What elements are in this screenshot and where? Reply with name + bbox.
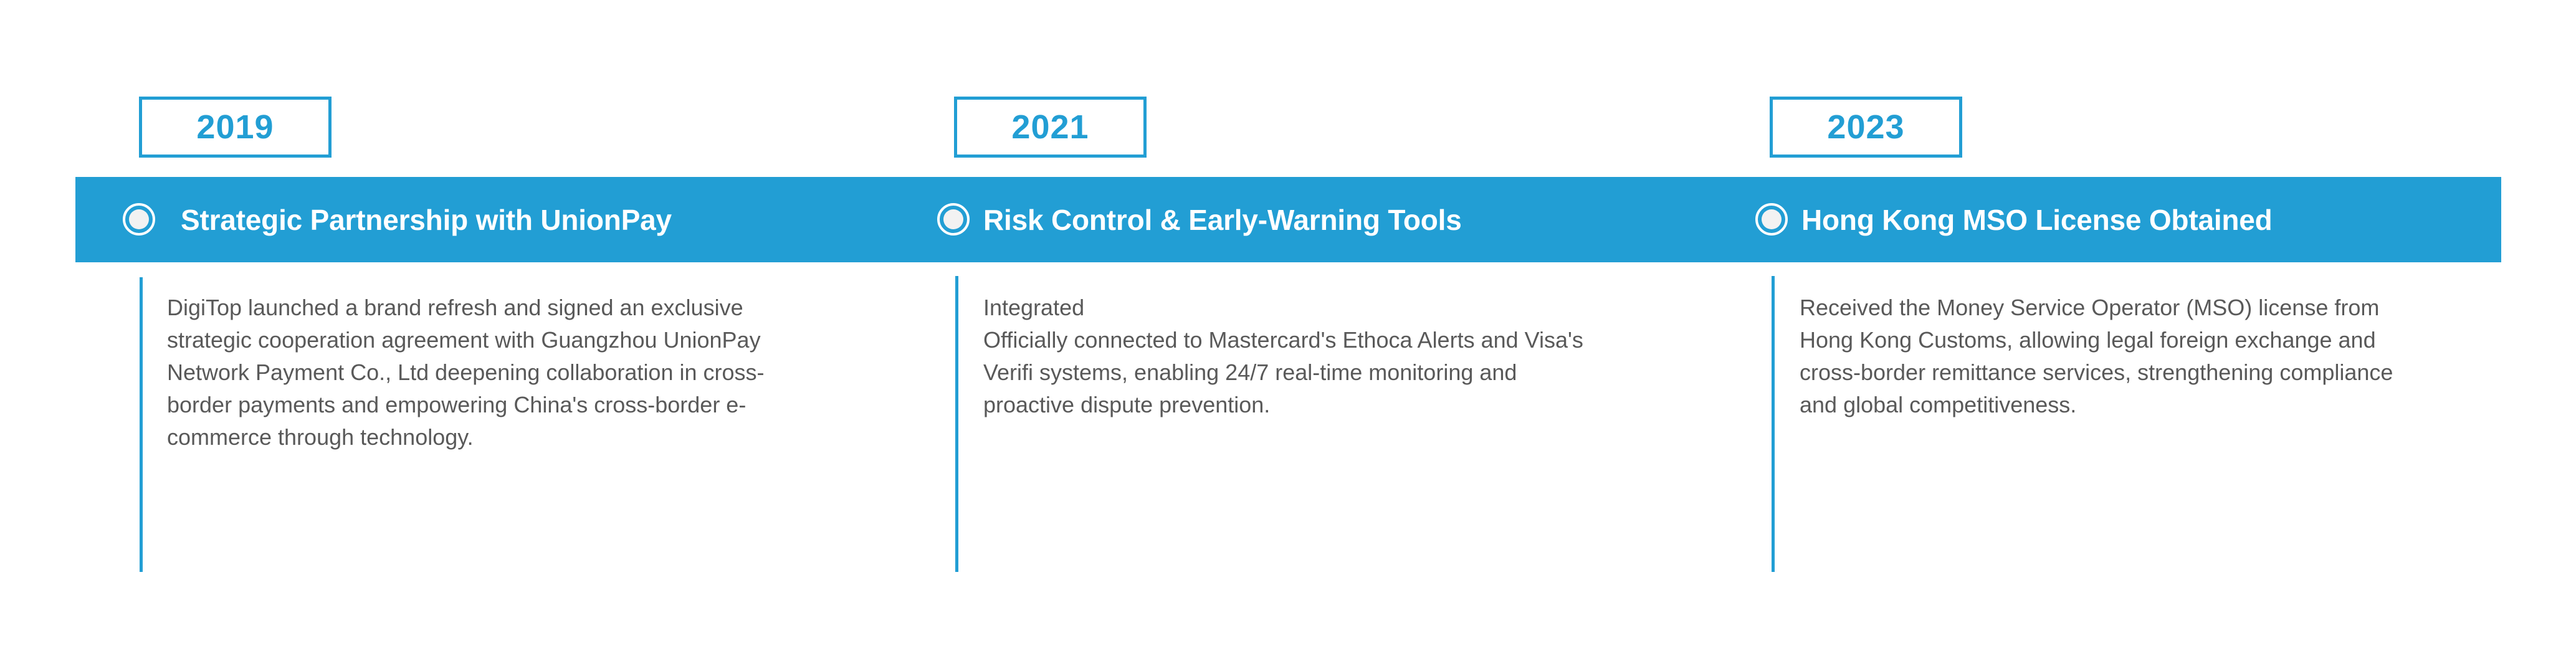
year-badge-2019: 2019 — [139, 97, 332, 158]
filled-circle-marker-icon — [1755, 203, 1788, 236]
year-badge-2021: 2021 — [954, 97, 1147, 158]
year-badge-2023: 2023 — [1770, 97, 1962, 158]
accent-rule-2019 — [140, 277, 143, 572]
milestone-title-2019: Strategic Partnership with UnionPay — [181, 177, 672, 262]
milestone-title-2023: Hong Kong MSO License Obtained — [1801, 177, 2273, 262]
filled-circle-marker-icon — [937, 203, 970, 236]
filled-circle-marker-icon — [123, 203, 155, 236]
milestone-description-2023: Received the Money Service Operator (MSO… — [1800, 292, 2429, 421]
year-label: 2023 — [1827, 110, 1904, 144]
year-label: 2021 — [1011, 110, 1089, 144]
milestone-title-2021: Risk Control & Early-Warning Tools — [983, 177, 1462, 262]
accent-rule-2023 — [1772, 276, 1775, 572]
milestone-description-2021: Integrated Officially connected to Maste… — [983, 292, 1600, 421]
year-label: 2019 — [196, 110, 274, 144]
milestone-description-2019: DigiTop launched a brand refresh and sig… — [167, 292, 803, 454]
accent-rule-2021 — [955, 276, 958, 572]
timeline-infographic: 2019 2021 2023 Strategic Partnership wit… — [0, 0, 2576, 671]
